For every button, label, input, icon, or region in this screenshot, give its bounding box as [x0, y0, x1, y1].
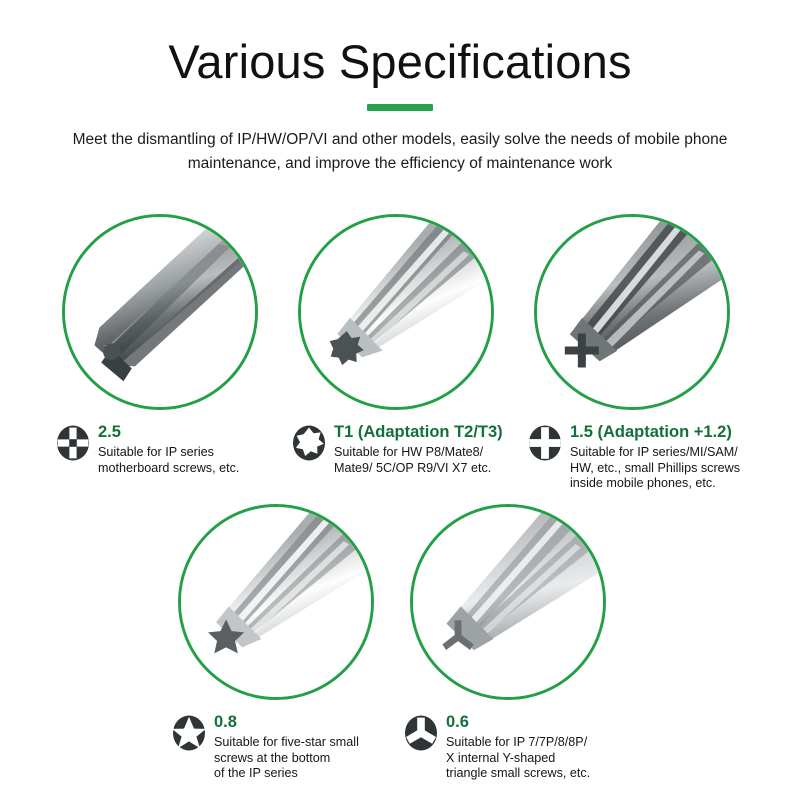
- spec-info-2: T1 (Adaptation T2/T3) Suitable for HW P8…: [292, 422, 520, 476]
- spec-text-5: 0.6 Suitable for IP 7/7P/8/8P/ X interna…: [446, 712, 590, 782]
- spec-info-1: 2.5 Suitable for IP series motherboard s…: [56, 422, 284, 476]
- plus-cross-icon: [528, 424, 562, 462]
- title-underline: [367, 104, 433, 111]
- tripoint-bit: [413, 507, 603, 697]
- spec-photo-4: [178, 504, 374, 700]
- spec-label: 2.5: [98, 423, 239, 442]
- spec-label: T1 (Adaptation T2/T3): [334, 423, 520, 442]
- spec-text-4: 0.8 Suitable for five-star small screws …: [214, 712, 359, 782]
- five-point-star-icon: [172, 714, 206, 752]
- page-title: Various Specifications: [0, 34, 800, 90]
- spec-description: Suitable for IP series motherboard screw…: [98, 445, 239, 476]
- spec-text-2: T1 (Adaptation T2/T3) Suitable for HW P8…: [334, 422, 520, 476]
- spec-description: Suitable for HW P8/Mate8/ Mate9/ 5C/OP R…: [334, 445, 520, 476]
- spec-text-1: 2.5 Suitable for IP series motherboard s…: [98, 422, 239, 476]
- specs-row-top: 2.5 Suitable for IP series motherboard s…: [56, 214, 756, 492]
- phillips-bit: [537, 217, 727, 407]
- torx-six-point-star-icon: [292, 424, 326, 462]
- specs-row-bottom: 0.8 Suitable for five-star small screws …: [172, 504, 632, 782]
- y-tripoint-icon: [404, 714, 438, 752]
- spec-card-2[interactable]: T1 (Adaptation T2/T3) Suitable for HW P8…: [292, 214, 520, 492]
- spec-photo-1: [62, 214, 258, 410]
- spec-card-4[interactable]: 0.8 Suitable for five-star small screws …: [172, 504, 400, 782]
- flat-cross-bit: [65, 217, 255, 407]
- spec-card-5[interactable]: 0.6 Suitable for IP 7/7P/8/8P/ X interna…: [404, 504, 632, 782]
- spec-card-1[interactable]: 2.5 Suitable for IP series motherboard s…: [56, 214, 284, 492]
- spec-description: Suitable for IP series/MI/SAM/ HW, etc.,…: [570, 445, 756, 492]
- spec-description: Suitable for five-star small screws at t…: [214, 735, 359, 782]
- spec-info-4: 0.8 Suitable for five-star small screws …: [172, 712, 400, 782]
- page-subtitle: Meet the dismantling of IP/HW/OP/VI and …: [70, 128, 730, 176]
- specification-infographic: Various Specifications Meet the dismantl…: [0, 0, 800, 800]
- torx-bit: [301, 217, 491, 407]
- phillips-cross-icon: [56, 424, 90, 462]
- spec-photo-3: [534, 214, 730, 410]
- spec-label: 0.6: [446, 713, 590, 732]
- spec-photo-5: [410, 504, 606, 700]
- spec-label: 1.5 (Adaptation +1.2): [570, 423, 756, 442]
- spec-label: 0.8: [214, 713, 359, 732]
- spec-info-3: 1.5 (Adaptation +1.2) Suitable for IP se…: [528, 422, 756, 492]
- header: Various Specifications Meet the dismantl…: [0, 34, 800, 176]
- pentalobe-bit: [181, 507, 371, 697]
- spec-photo-2: [298, 214, 494, 410]
- spec-text-3: 1.5 (Adaptation +1.2) Suitable for IP se…: [570, 422, 756, 492]
- spec-description: Suitable for IP 7/7P/8/8P/ X internal Y-…: [446, 735, 590, 782]
- spec-card-3[interactable]: 1.5 (Adaptation +1.2) Suitable for IP se…: [528, 214, 756, 492]
- spec-info-5: 0.6 Suitable for IP 7/7P/8/8P/ X interna…: [404, 712, 632, 782]
